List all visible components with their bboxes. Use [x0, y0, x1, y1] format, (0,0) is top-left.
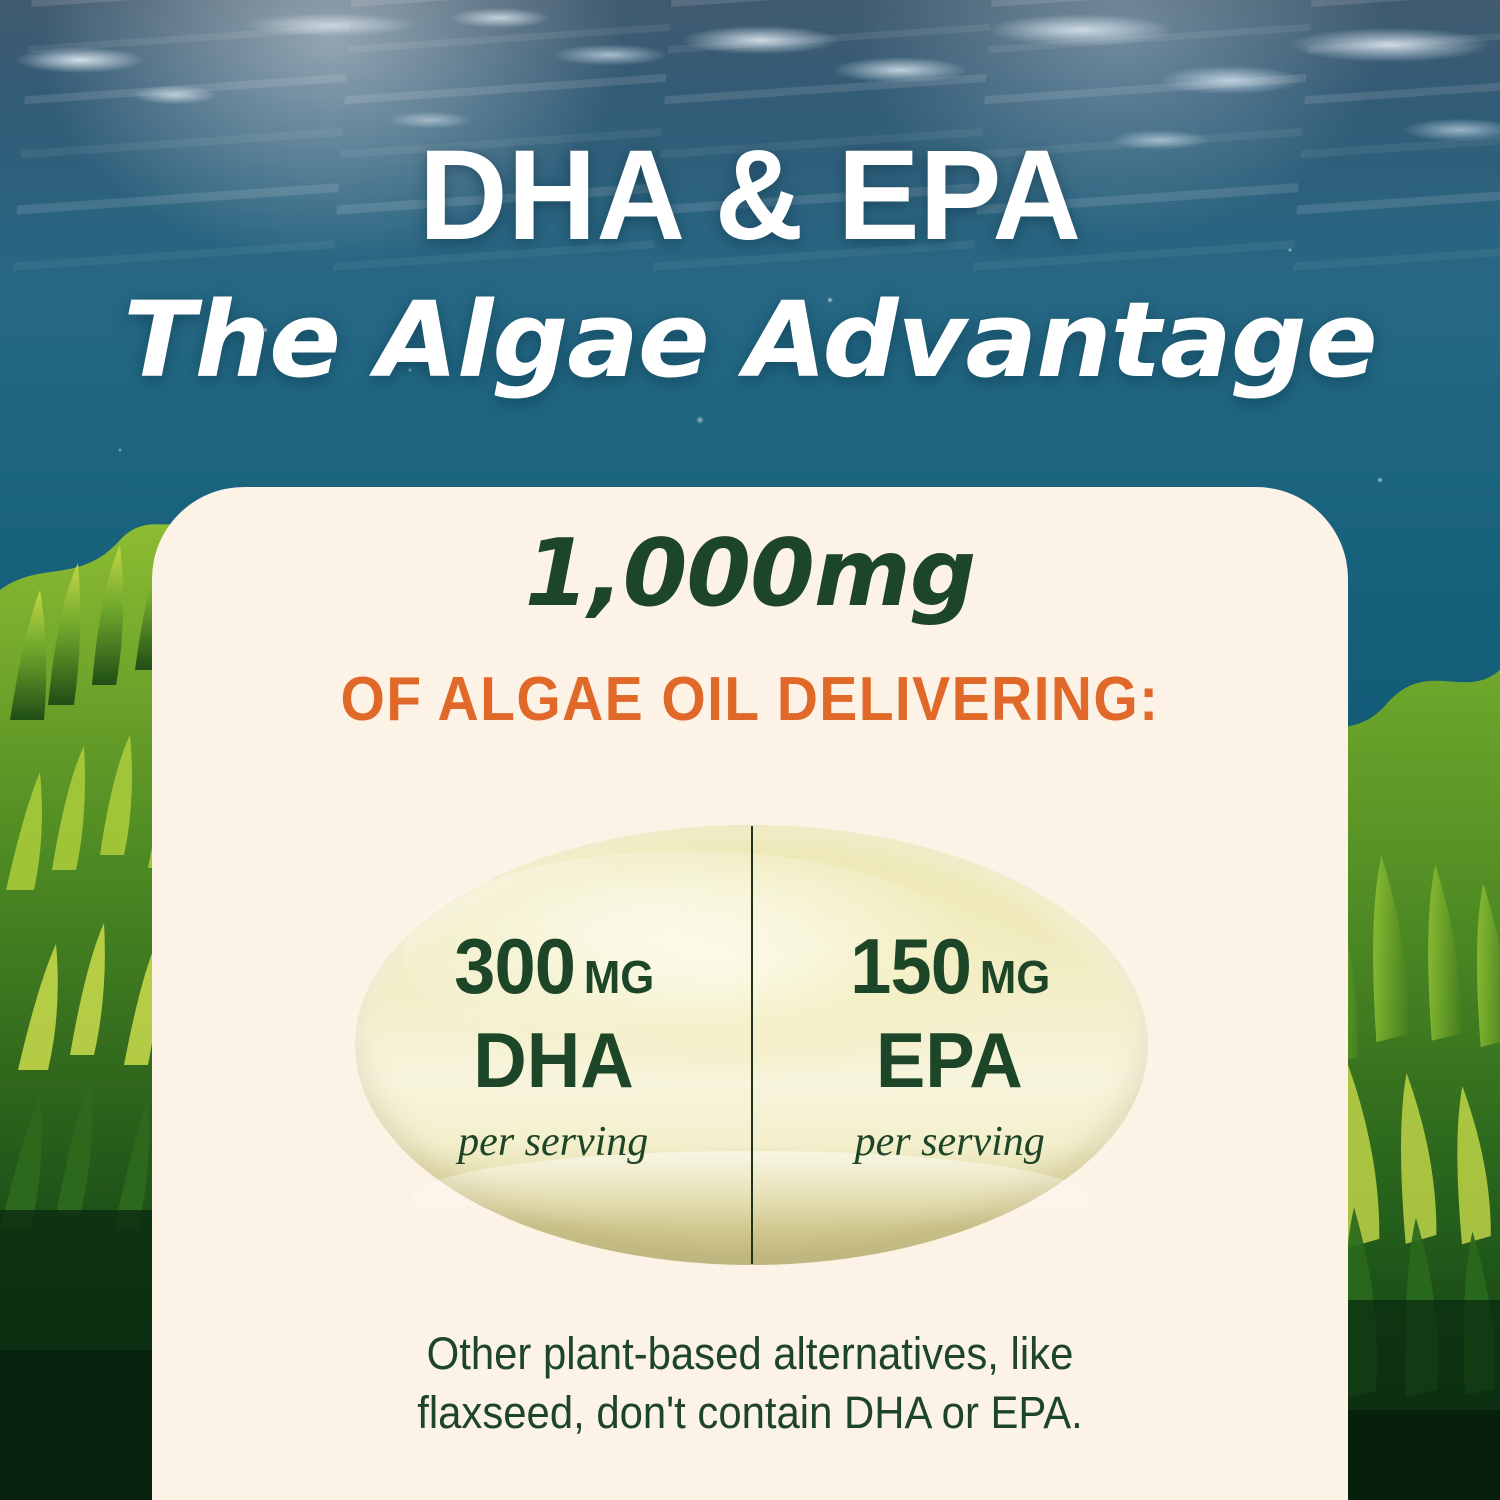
epa-amount-number: 150 [850, 927, 971, 1005]
algae-oil-amount: 1,000mg [152, 527, 1348, 620]
dha-per-serving: per serving [458, 1121, 648, 1163]
dha-dose: 300 MG [451, 927, 656, 1005]
capsule-divider-line [751, 826, 753, 1264]
dha-amount-number: 300 [454, 927, 575, 1005]
epa-label: EPA [876, 1021, 1023, 1099]
epa-per-serving: per serving [855, 1121, 1045, 1163]
epa-dose: 150 MG [847, 927, 1052, 1005]
footnote-line-2: flaxseed, don't contain DHA or EPA. [268, 1384, 1231, 1443]
capsule-half-epa: 150 MG EPA per serving [752, 825, 1149, 1265]
page-subtitle: The Algae Advantage [0, 288, 1500, 392]
epa-amount-unit: MG [980, 954, 1050, 1000]
page-title: DHA & EPA [30, 132, 1470, 260]
footnote-line-1: Other plant-based alternatives, like [268, 1325, 1231, 1384]
footnote: Other plant-based alternatives, like fla… [268, 1325, 1231, 1442]
info-card: 1,000mg OF ALGAE OIL DELIVERING: 300 MG … [152, 487, 1348, 1500]
capsule-half-dha: 300 MG DHA per serving [355, 825, 752, 1265]
product-infographic: DHA & EPA The Algae Advantage 1,000mg OF… [0, 0, 1500, 1500]
algae-oil-amount-caption: OF ALGAE OIL DELIVERING: [200, 669, 1300, 731]
dha-amount-unit: MG [584, 954, 654, 1000]
softgel-capsule-graphic: 300 MG DHA per serving 150 MG EPA per se… [355, 825, 1148, 1265]
dha-label: DHA [473, 1021, 634, 1099]
